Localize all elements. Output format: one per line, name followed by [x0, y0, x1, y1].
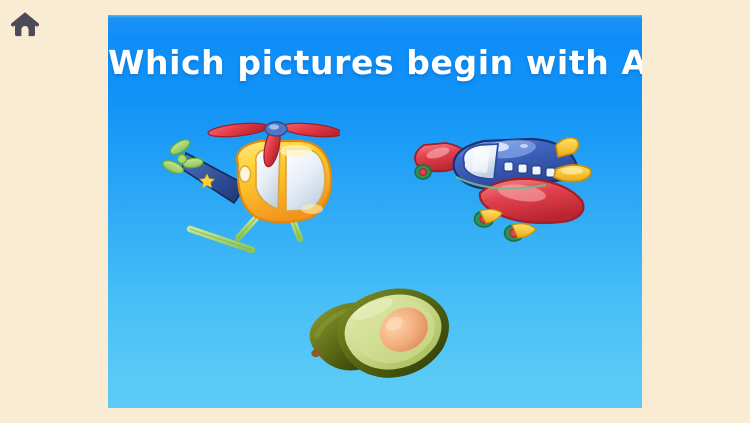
avocado-icon — [283, 273, 473, 393]
activity-panel: Which pictures begin with A? — [108, 15, 642, 408]
app-root: Which pictures begin with A? — [0, 0, 750, 423]
helicopter-icon — [160, 117, 340, 257]
question-title: Which pictures begin with A? — [108, 43, 642, 82]
airplane-icon — [406, 123, 596, 248]
home-button[interactable] — [8, 8, 42, 40]
home-icon — [10, 10, 40, 38]
picture-card-airplane[interactable] — [406, 123, 596, 248]
picture-card-helicopter[interactable] — [160, 117, 340, 257]
picture-card-avocado[interactable] — [283, 273, 473, 393]
panel-top-highlight — [108, 15, 642, 18]
